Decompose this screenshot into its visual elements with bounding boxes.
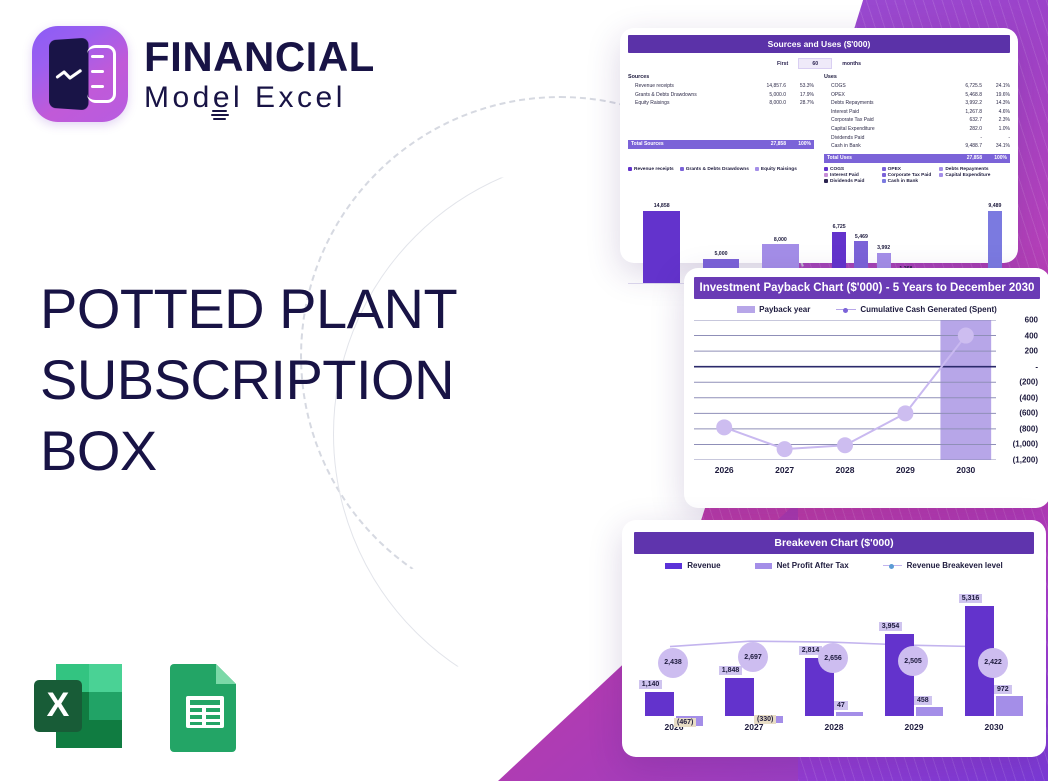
- use-row-name: Debts Repayments: [824, 99, 944, 108]
- y-tick-label: 200: [1025, 347, 1038, 356]
- net-profit-value-label: 972: [994, 685, 1012, 694]
- legend-label: Payback year: [759, 305, 810, 314]
- sources-uses-tables: Sources Revenue receipts14,857.653.3%Gra…: [628, 74, 1010, 163]
- legend-item: Dividends Paid: [824, 179, 882, 184]
- use-row-name: Dividends Paid: [824, 134, 944, 143]
- use-row-pct: 14.3%: [982, 99, 1010, 108]
- sources-header: Sources: [628, 74, 814, 80]
- breakeven-title: Breakeven Chart ($'000): [634, 532, 1034, 554]
- use-row-name: COGS: [824, 82, 944, 91]
- table-row: Revenue receipts14,857.653.3%: [628, 82, 814, 91]
- source-row-name: Grants & Debts Drawdowns: [628, 91, 748, 100]
- x-tick-label: 2030: [954, 722, 1034, 732]
- period-prefix-label: First: [777, 61, 788, 67]
- uses-table: Uses COGS6,725.524.1%OPEX5,468.819.6%Deb…: [824, 74, 1010, 163]
- source-row-name: Revenue receipts: [628, 82, 748, 91]
- brand-lockup: FINANCIAL Model Excel: [32, 26, 375, 122]
- brand-subtitle: Model Excel: [144, 83, 375, 113]
- table-row: Dividends Paid--: [824, 134, 1010, 143]
- net-profit-bar: [996, 696, 1023, 716]
- breakeven-node: 2,505: [898, 646, 928, 676]
- x-tick-label: 2026: [694, 465, 754, 475]
- y-tick-label: (400): [1019, 393, 1038, 402]
- legend-label: Equity Raisings: [761, 167, 797, 172]
- table-row: Corporate Tax Paid632.72.3%: [824, 116, 1010, 125]
- total-uses-value: 27,858: [944, 155, 982, 161]
- y-tick-label: 600: [1025, 316, 1038, 325]
- x-tick-label: 2027: [754, 465, 814, 475]
- sources-table: Sources Revenue receipts14,857.653.3%Gra…: [628, 74, 814, 163]
- legend-item: Cumulative Cash Generated (Spent): [836, 305, 996, 314]
- page-title: POTTED PLANT SUBSCRIPTION BOX: [40, 273, 510, 486]
- legend-label: Interest Paid: [830, 173, 859, 178]
- x-tick-label: 2029: [874, 722, 954, 732]
- legend-label: OPEX: [888, 167, 901, 172]
- payback-x-axis: 20262027202820292030: [694, 465, 1040, 475]
- payback-title: Investment Payback Chart ($'000) - 5 Yea…: [694, 277, 1040, 299]
- legend-item: Cash in Bank: [882, 179, 940, 184]
- net-profit-value-label: (467): [674, 718, 696, 727]
- x-tick-label: 2029: [875, 465, 935, 475]
- bar-value-label: 5,000: [714, 251, 727, 257]
- table-row: COGS6,725.524.1%: [824, 82, 1010, 91]
- table-row: OPEX5,468.819.6%: [824, 91, 1010, 100]
- total-sources-label: Total Sources: [628, 141, 748, 147]
- use-row-value: 3,992.2: [944, 99, 982, 108]
- source-row-pct: 53.3%: [786, 82, 814, 91]
- payback-line-chart: [694, 320, 996, 460]
- legend-item: Debts Repayments: [939, 167, 997, 172]
- total-sources-pct: 100%: [786, 141, 814, 147]
- logo-squiggle-icon: [56, 69, 83, 81]
- use-row-value: 1,267.8: [944, 108, 982, 117]
- table-row: Interest Paid1,267.84.6%: [824, 108, 1010, 117]
- breakeven-node: 2,697: [738, 642, 768, 672]
- y-tick-label: 400: [1025, 331, 1038, 340]
- legend-item: Equity Raisings: [755, 167, 797, 172]
- bar-value-label: 9,489: [988, 203, 1001, 209]
- use-row-pct: -: [982, 134, 1010, 143]
- table-row: Debts Repayments3,992.214.3%: [824, 99, 1010, 108]
- total-uses-pct: 100%: [982, 155, 1010, 161]
- breakeven-group: 2,814472,656: [794, 584, 874, 716]
- legend-swatch: [665, 563, 682, 569]
- source-row-value: 14,857.6: [748, 82, 786, 91]
- legend-swatch: [836, 309, 856, 310]
- use-row-name: Capital Expenditure: [824, 125, 944, 134]
- microsoft-excel-icon: X: [30, 660, 126, 752]
- headline-line-2: SUBSCRIPTION: [40, 344, 510, 415]
- table-row: Equity Raisings8,000.028.7%: [628, 99, 814, 108]
- breakeven-group: 1,848(330)2,697: [714, 584, 794, 716]
- legend-item: Revenue: [665, 561, 720, 570]
- use-row-name: Corporate Tax Paid: [824, 116, 944, 125]
- legend-label: Grants & Debts Drawdowns: [686, 167, 749, 172]
- x-tick-label: 2030: [936, 465, 996, 475]
- bar-item: 14,858: [643, 188, 680, 283]
- use-row-pct: 1.0%: [982, 125, 1010, 134]
- y-tick-label: (600): [1019, 409, 1038, 418]
- card-breakeven[interactable]: Breakeven Chart ($'000) RevenueNet Profi…: [622, 520, 1046, 757]
- payback-legend: Payback yearCumulative Cash Generated (S…: [694, 305, 1040, 314]
- use-row-value: 5,468.8: [944, 91, 982, 100]
- sources-uses-title: Sources and Uses ($'000): [628, 35, 1010, 53]
- revenue-value-label: 1,848: [719, 666, 743, 675]
- bar-value-label: 14,858: [654, 203, 670, 209]
- legend-item: Capital Expenditure: [939, 173, 997, 178]
- use-row-pct: 2.3%: [982, 116, 1010, 125]
- headline-line-3: BOX: [40, 415, 510, 486]
- source-row-pct: 28.7%: [786, 99, 814, 108]
- uses-header: Uses: [824, 74, 1010, 80]
- breakeven-node: 2,422: [978, 648, 1008, 678]
- use-row-value: -: [944, 134, 982, 143]
- y-tick-label: -: [1035, 362, 1038, 371]
- payback-plot: 600400200-(200)(400)(600)(800)(1,000)(1,…: [694, 320, 1040, 460]
- use-row-pct: 19.6%: [982, 91, 1010, 100]
- table-row: Capital Expenditure282.01.0%: [824, 125, 1010, 134]
- total-sources-value: 27,858: [748, 141, 786, 147]
- bar-value-label: 3,992: [877, 245, 890, 251]
- use-row-value: 282.0: [944, 125, 982, 134]
- period-selector[interactable]: First 60 months: [628, 58, 1010, 69]
- legend-item: Net Profit After Tax: [755, 561, 849, 570]
- svg-text:X: X: [47, 686, 70, 724]
- brand-title: FINANCIAL: [144, 36, 375, 78]
- x-tick-label: 2028: [794, 722, 874, 732]
- use-row-value: 9,488.7: [944, 142, 982, 151]
- table-row: Grants & Debts Drawdowns5,000.017.9%: [628, 91, 814, 100]
- breakeven-node: 2,656: [818, 643, 848, 673]
- breakeven-plot: 1,140(467)2,4381,848(330)2,6972,814472,6…: [634, 584, 1034, 716]
- net-profit-value-label: 47: [834, 701, 848, 710]
- legend-item: COGS: [824, 167, 882, 172]
- use-row-value: 6,725.5: [944, 82, 982, 91]
- table-row: Cash in Bank9,488.734.1%: [824, 142, 1010, 151]
- legend-swatch: [883, 565, 902, 566]
- revenue-bar: [725, 678, 754, 716]
- total-uses-row: Total Uses 27,858 100%: [824, 154, 1010, 163]
- source-row-value: 8,000.0: [748, 99, 786, 108]
- breakeven-legend: RevenueNet Profit After TaxRevenue Break…: [634, 561, 1034, 570]
- legend-item: Corporate Tax Paid: [882, 173, 940, 178]
- net-profit-bar: [916, 707, 943, 716]
- legend-label: Cash in Bank: [888, 179, 918, 184]
- y-tick-label: (200): [1019, 378, 1038, 387]
- legend-label: Dividends Paid: [830, 179, 864, 184]
- legend-label: Net Profit After Tax: [777, 561, 849, 570]
- legend-label: Capital Expenditure: [945, 173, 990, 178]
- net-profit-bar: [836, 712, 863, 716]
- google-sheets-icon: [168, 660, 242, 752]
- legend-swatch: [755, 563, 772, 569]
- legend-label: Revenue receipts: [634, 167, 674, 172]
- total-sources-row: Total Sources 27,858 100%: [628, 140, 814, 149]
- use-row-value: 632.7: [944, 116, 982, 125]
- legend-label: Revenue: [687, 561, 720, 570]
- use-row-name: Interest Paid: [824, 108, 944, 117]
- revenue-value-label: 5,316: [959, 594, 983, 603]
- legend-sources: Revenue receiptsGrants & Debts Drawdowns…: [628, 167, 814, 173]
- legend-label: Corporate Tax Paid: [888, 173, 932, 178]
- use-row-pct: 34.1%: [982, 142, 1010, 151]
- revenue-value-label: 3,954: [879, 622, 903, 631]
- sources-uses-legends: Revenue receiptsGrants & Debts Drawdowns…: [628, 167, 1010, 185]
- bar-value-label: 5,469: [855, 234, 868, 240]
- legend-item: OPEX: [882, 167, 940, 172]
- brand-subtitle-text: Model Excel: [144, 83, 346, 113]
- x-tick-label: 2028: [815, 465, 875, 475]
- use-row-pct: 24.1%: [982, 82, 1010, 91]
- legend-label: Revenue Breakeven level: [907, 561, 1003, 570]
- headline-line-1: POTTED PLANT: [40, 273, 510, 344]
- legend-item: Revenue receipts: [628, 167, 674, 172]
- net-profit-value-label: (330): [754, 715, 776, 724]
- logo-lines-shape: [87, 45, 116, 103]
- legend-item: Grants & Debts Drawdowns: [680, 167, 749, 172]
- bar-shape: [643, 211, 680, 283]
- bar-value-label: 6,725: [833, 224, 846, 230]
- legend-label: Debts Repayments: [945, 167, 988, 172]
- use-row-pct: 4.6%: [982, 108, 1010, 117]
- breakeven-group: 1,140(467)2,438: [634, 584, 714, 716]
- legend-uses: COGSOPEXDebts RepaymentsInterest PaidCor…: [824, 167, 1010, 185]
- revenue-bar: [645, 692, 674, 716]
- legend-item: Interest Paid: [824, 173, 882, 178]
- y-tick-label: (1,000): [1013, 440, 1038, 449]
- y-tick-label: (800): [1019, 424, 1038, 433]
- legend-item: Revenue Breakeven level: [883, 561, 1003, 570]
- poster-canvas: FINANCIAL Model Excel POTTED PLANT SUBSC…: [0, 0, 1048, 781]
- legend-item: Payback year: [737, 305, 810, 314]
- source-row-pct: 17.9%: [786, 91, 814, 100]
- net-profit-value-label: 458: [914, 696, 932, 705]
- payback-y-axis: 600400200-(200)(400)(600)(800)(1,000)(1,…: [996, 320, 1040, 460]
- source-row-name: Equity Raisings: [628, 99, 748, 108]
- legend-label: COGS: [830, 167, 844, 172]
- use-row-name: OPEX: [824, 91, 944, 100]
- card-sources-and-uses[interactable]: Sources and Uses ($'000) First 60 months…: [620, 28, 1018, 263]
- financial-model-logo-icon: [32, 26, 128, 122]
- logo-card-shape: [49, 38, 88, 111]
- breakeven-group: 5,3169722,422: [954, 584, 1034, 716]
- breakeven-node: 2,438: [658, 648, 688, 678]
- bar-value-label: 8,000: [774, 237, 787, 243]
- legend-swatch: [737, 306, 755, 313]
- revenue-value-label: 1,140: [639, 680, 663, 689]
- legend-label: Cumulative Cash Generated (Spent): [860, 305, 996, 314]
- use-row-name: Cash in Bank: [824, 142, 944, 151]
- card-investment-payback[interactable]: Investment Payback Chart ($'000) - 5 Yea…: [684, 268, 1048, 508]
- period-months-input[interactable]: 60: [798, 58, 832, 69]
- y-tick-label: (1,200): [1013, 456, 1038, 465]
- total-uses-label: Total Uses: [824, 155, 944, 161]
- source-row-value: 5,000.0: [748, 91, 786, 100]
- file-format-icons: X: [30, 660, 242, 752]
- period-suffix-label: months: [842, 61, 861, 67]
- breakeven-group: 3,9544582,505: [874, 584, 954, 716]
